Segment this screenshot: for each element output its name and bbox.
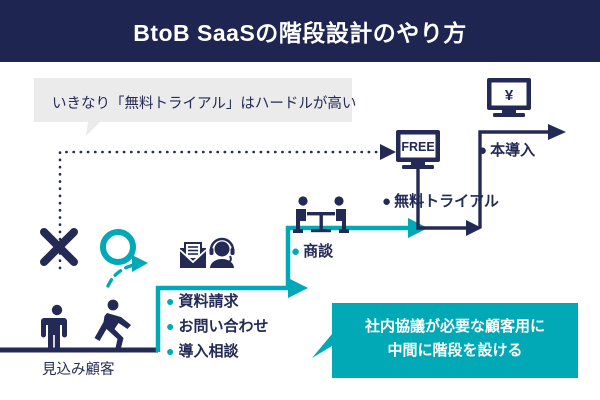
callout-text: いきなり「無料トライアル」はハードルが高い [52,92,356,113]
monitor-yen-icon: ¥ [487,78,531,117]
diagram-stage: BtoB SaaSの階段設計のやり方 [0,0,600,400]
bullet-dot: ● [166,343,174,359]
ground-label: 見込み顧客 [42,358,115,379]
step-label-free-trial: ●無料トライアル [382,190,499,211]
circle-mark-icon [103,232,133,262]
walking-person-icon [95,300,132,350]
standing-person-icon [41,305,67,350]
bullet-dot: ● [166,318,174,334]
yen-screen-text: ¥ [505,87,514,104]
free-screen-text: FREE [401,140,434,154]
step-label-full-deployment: ●本導入 [478,139,535,160]
envelope-and-support-agent-icon [180,239,235,268]
step-label-meeting: ●商談 [291,240,333,261]
list-item: ●資料請求 [166,289,268,314]
bullet-dot: ● [291,243,300,260]
inquiry-item-list: ●資料請求 ●お問い合わせ ●導入相談 [166,289,268,364]
teal-bubble-line-2: 中間に階段を設ける [340,339,570,363]
monitor-free-icon: FREE [396,130,440,169]
list-item: ●お問い合わせ [166,314,268,339]
bullet-dot: ● [166,293,174,309]
teal-bubble-line-1: 社内協議が必要な顧客用に [340,315,570,339]
teal-bubble-text: 社内協議が必要な顧客用に 中間に階段を設ける [340,315,570,363]
list-item: ●導入相談 [166,339,268,364]
bullet-dot: ● [382,193,391,210]
bullet-dot: ● [478,142,487,159]
cross-mark-icon [44,232,74,262]
